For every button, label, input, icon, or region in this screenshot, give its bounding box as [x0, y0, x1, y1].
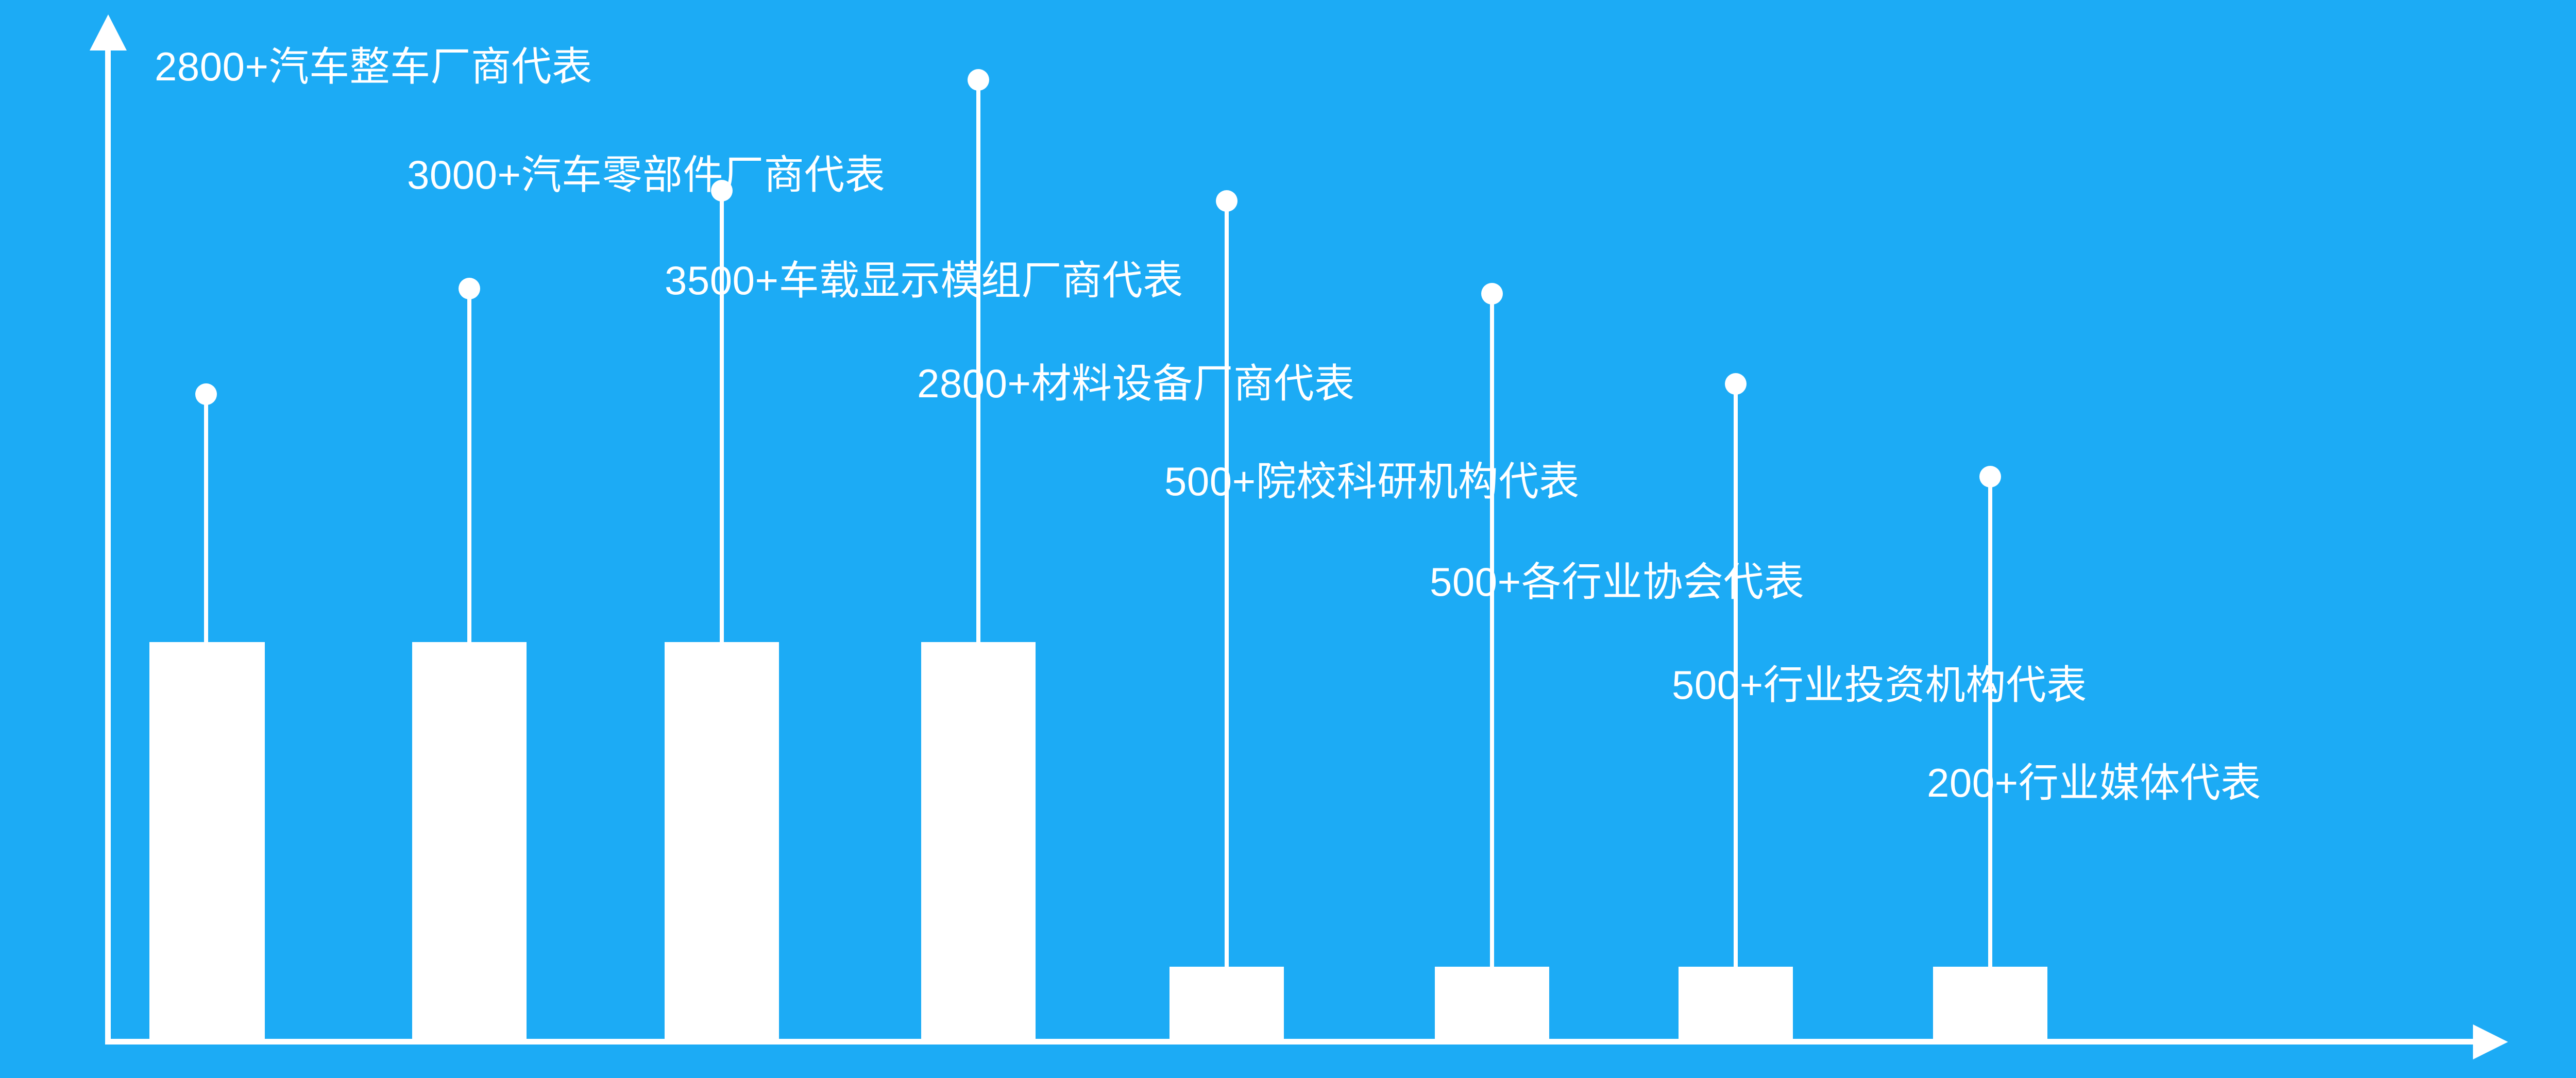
bar-label-8: 200+行业媒体代表 [1927, 763, 2261, 803]
bar-stem [1225, 201, 1229, 967]
bar-rect [665, 642, 779, 1039]
bar-rect [149, 642, 265, 1039]
bar-stem [204, 395, 208, 642]
bar-rect [412, 642, 527, 1039]
bar-label-5: 500+院校科研机构代表 [1164, 461, 1580, 501]
bar-label-3: 3500+车载显示模组厂商代表 [665, 260, 1183, 300]
y-axis-line [105, 46, 111, 1042]
bar-dot [459, 278, 480, 299]
x-axis-line [105, 1039, 2478, 1045]
x-axis-arrow-icon [2473, 1024, 2508, 1059]
bar-label-4: 2800+材料设备厂商代表 [917, 363, 1355, 403]
bar-rect [1933, 967, 2047, 1039]
bar-label-1: 2800+汽车整车厂商代表 [155, 46, 592, 87]
bar-label-7: 500+行业投资机构代表 [1672, 665, 2087, 705]
bar-dot [195, 383, 217, 405]
bar-rect [1679, 967, 1793, 1039]
bar-dot [1725, 373, 1747, 395]
bar-stem [1490, 294, 1494, 967]
y-axis-arrow-icon [90, 14, 127, 50]
bar-chart: 2800+汽车整车厂商代表 3000+汽车零部件厂商代表 3500+车载显示模组… [0, 0, 2576, 1078]
bar-dot [711, 180, 733, 201]
bar-rect [1435, 967, 1549, 1039]
bar-label-2: 3000+汽车零部件厂商代表 [407, 155, 885, 195]
bar-stem [467, 289, 471, 642]
bar-dot [968, 69, 989, 91]
bar-dot [1481, 283, 1503, 305]
bar-stem [1988, 477, 1992, 967]
bar-rect [1170, 967, 1284, 1039]
bar-label-6: 500+各行业协会代表 [1430, 562, 1804, 602]
bar-dot [1216, 190, 1238, 212]
bar-dot [1979, 466, 2001, 487]
bar-rect [921, 642, 1036, 1039]
